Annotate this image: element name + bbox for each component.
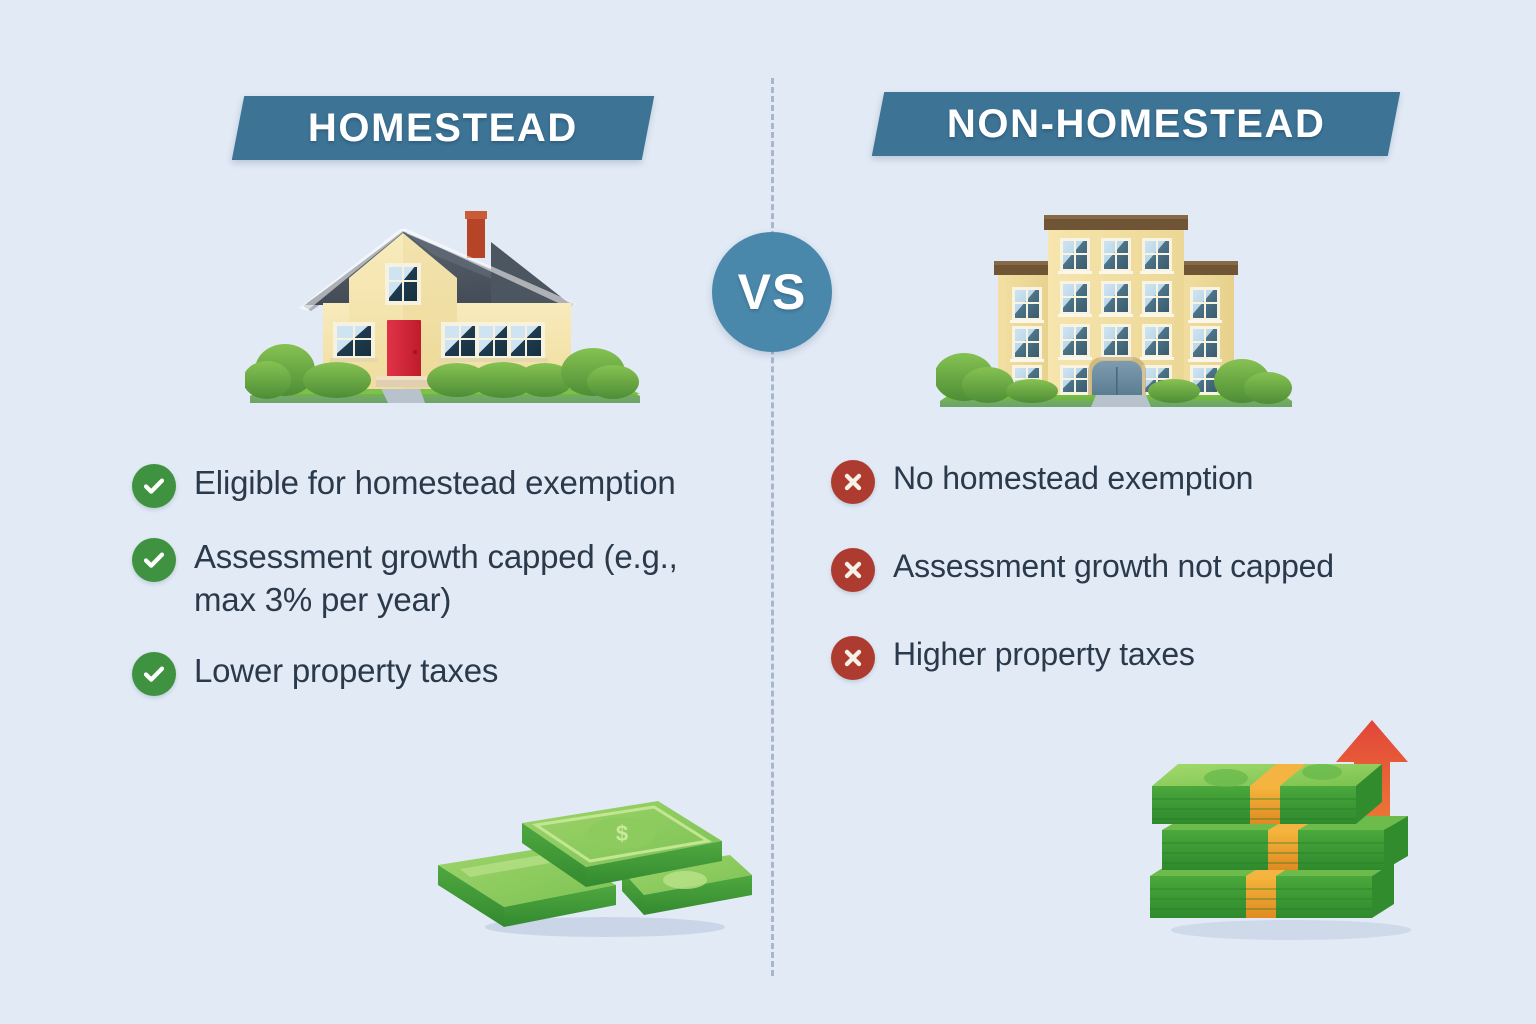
list-item-label: Higher property taxes: [893, 634, 1195, 676]
apartment-building-illustration: [936, 195, 1296, 425]
cross-circle-icon: [831, 636, 875, 680]
check-circle-icon: [132, 652, 176, 696]
list-item: Assessment growth capped (e.g., max 3% p…: [132, 536, 742, 622]
single-family-house-illustration: [245, 200, 645, 425]
list-item: No homestead exemption: [831, 458, 1511, 504]
non-homestead-banner-label: NON-HOMESTEAD: [947, 102, 1326, 147]
cash-stack-illustration: $: [430, 775, 760, 940]
list-item-label: No homestead exemption: [893, 458, 1253, 500]
check-circle-icon: [132, 464, 176, 508]
non-homestead-column: NON-HOMESTEAD: [771, 0, 1536, 1024]
check-circle-icon: [132, 538, 176, 582]
list-item: Eligible for homestead exemption: [132, 462, 742, 508]
homestead-banner-label: HOMESTEAD: [308, 106, 578, 151]
vs-badge: VS: [712, 232, 832, 352]
list-item-label: Eligible for homestead exemption: [194, 462, 676, 505]
non-homestead-drawbacks-list: No homestead exemption Assessment growth…: [831, 458, 1511, 722]
vs-label: VS: [738, 263, 807, 321]
list-item: Lower property taxes: [132, 650, 742, 696]
list-item: Assessment growth not capped: [831, 546, 1511, 592]
cross-circle-icon: [831, 548, 875, 592]
homestead-benefits-list: Eligible for homestead exemption Assessm…: [132, 462, 742, 724]
svg-text:$: $: [616, 821, 628, 846]
list-item-label: Lower property taxes: [194, 650, 498, 693]
cross-circle-icon: [831, 460, 875, 504]
list-item-label: Assessment growth not capped: [893, 546, 1334, 588]
homestead-banner: HOMESTEAD: [232, 96, 654, 160]
rising-cash-stack-illustration: [1136, 690, 1436, 945]
homestead-column: HOMESTEAD: [0, 0, 771, 1024]
non-homestead-banner: NON-HOMESTEAD: [872, 92, 1400, 156]
list-item: Higher property taxes: [831, 634, 1511, 680]
list-item-label: Assessment growth capped (e.g., max 3% p…: [194, 536, 724, 622]
